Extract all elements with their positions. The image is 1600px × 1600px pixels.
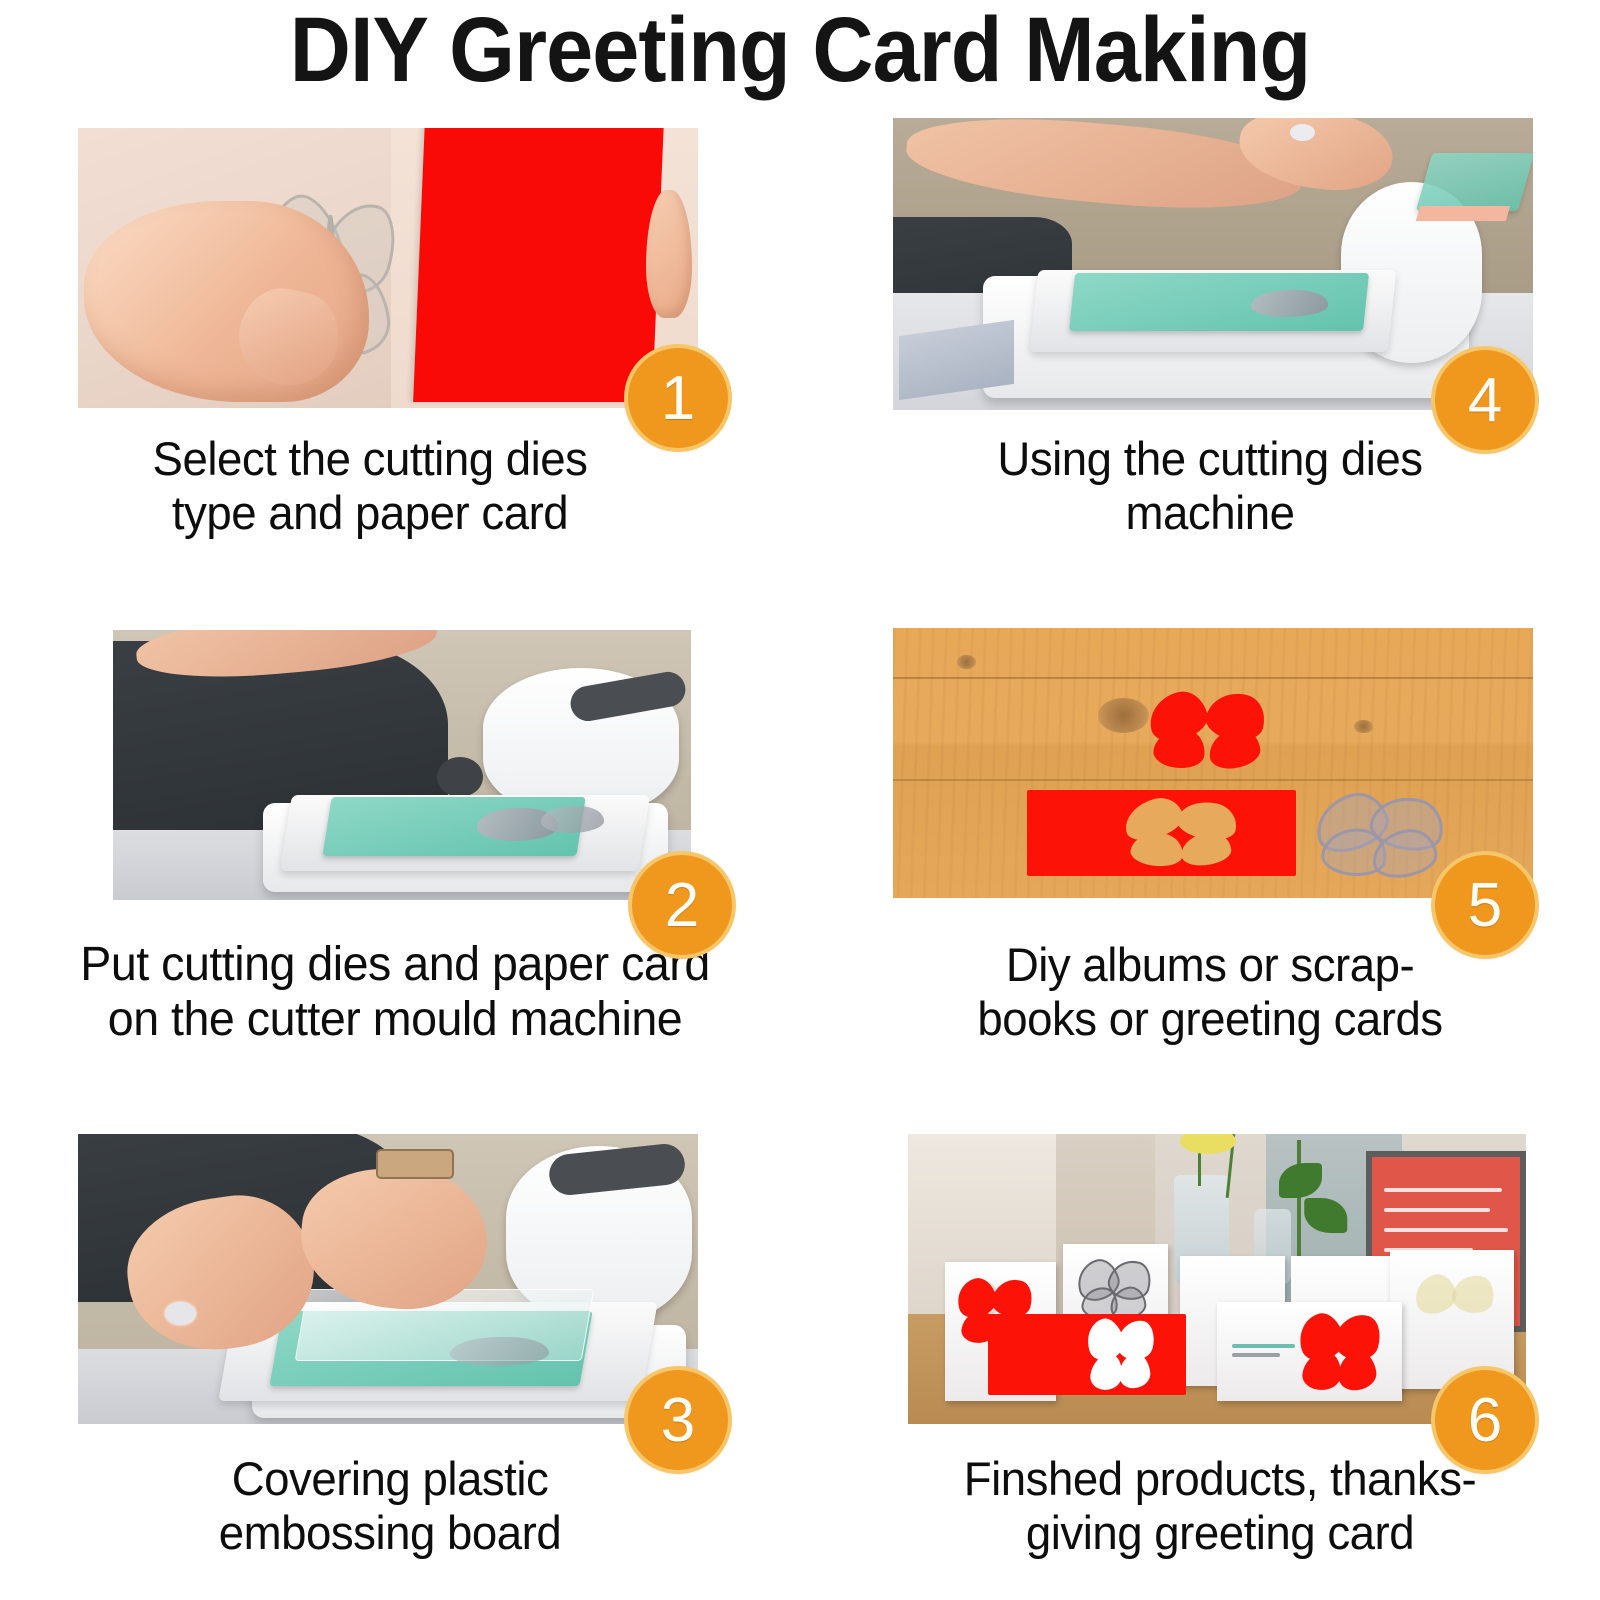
step-photo-6 (908, 1134, 1526, 1424)
step-caption-3-line1: Covering plastic (70, 1452, 710, 1506)
step-badge-3: 3 (628, 1370, 728, 1470)
step-caption-1-line1: Select the cutting dies (50, 432, 690, 486)
step-caption-1-line2: type and paper card (50, 486, 690, 540)
step-badge-5: 5 (1435, 855, 1535, 955)
step-caption-3-line2: embossing board (70, 1506, 710, 1560)
step-caption-6-line2: giving greeting card (871, 1506, 1569, 1560)
infographic-page: DIY Greeting Card Making (0, 0, 1600, 1600)
step-caption-6: Finshed products, thanks- giving greetin… (871, 1452, 1569, 1559)
step-caption-2: Put cutting dies and paper card on the c… (12, 938, 778, 1047)
step-caption-3: Covering plastic embossing board (70, 1452, 710, 1559)
step-photo-1 (78, 128, 698, 408)
wristwatch (376, 1149, 454, 1179)
red-card-with-hole (1027, 790, 1296, 876)
step-caption-2-line2: on the cutter mould machine (12, 993, 778, 1048)
step-badge-4: 4 (1435, 350, 1535, 450)
step-badge-6: 6 (1435, 1370, 1535, 1470)
step-caption-4: Using the cutting dies machine (871, 432, 1550, 539)
step-caption-4-line2: machine (871, 486, 1550, 540)
step-caption-5-line2: books or greeting cards (871, 992, 1550, 1046)
step-caption-1: Select the cutting dies type and paper c… (50, 432, 690, 539)
steps-grid: 1 Select the cutting dies type and paper… (0, 0, 1600, 1600)
step-photo-3 (78, 1134, 698, 1424)
step-caption-5-line1: Diy albums or scrap- (871, 938, 1550, 992)
step-photo-5 (893, 628, 1533, 898)
step-badge-1: 1 (628, 348, 728, 448)
silver-butterfly-die (1315, 795, 1443, 876)
step-caption-4-line1: Using the cutting dies (871, 432, 1550, 486)
step-photo-2 (113, 630, 691, 900)
step-caption-5: Diy albums or scrap- books or greeting c… (871, 938, 1550, 1045)
step-photo-4 (893, 118, 1533, 410)
red-butterfly-cutout (1149, 693, 1264, 769)
step-badge-2: 2 (632, 855, 732, 955)
